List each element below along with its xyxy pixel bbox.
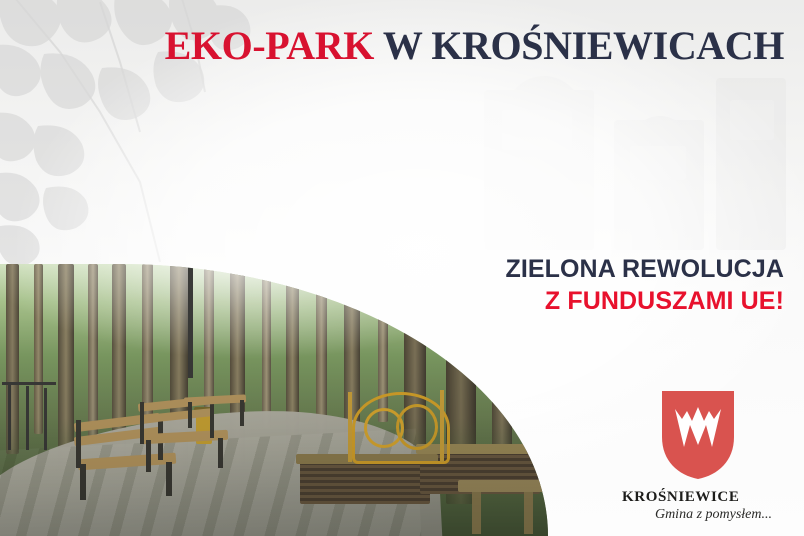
municipality-logo: KROŚNIEWICE Gmina z pomysłem...: [610, 389, 786, 522]
logo-municipality-name: KROŚNIEWICE: [610, 489, 786, 506]
page-title: EKO-PARK W KROŚNIEWICACH: [0, 26, 784, 66]
photo-color-grade: [0, 264, 548, 536]
poster: EKO-PARK W KROŚNIEWICACH ZIELONA REWOLUC…: [0, 0, 804, 536]
hero-photo-content: [0, 264, 548, 536]
logo-tagline: Gmina z pomysłem...: [610, 507, 786, 522]
hero-photo: [0, 264, 548, 536]
krosniewice-coat-of-arms-icon: [660, 389, 736, 481]
page-title-rest: W KROŚNIEWICACH: [374, 23, 784, 68]
page-title-highlight: EKO-PARK: [165, 23, 374, 68]
